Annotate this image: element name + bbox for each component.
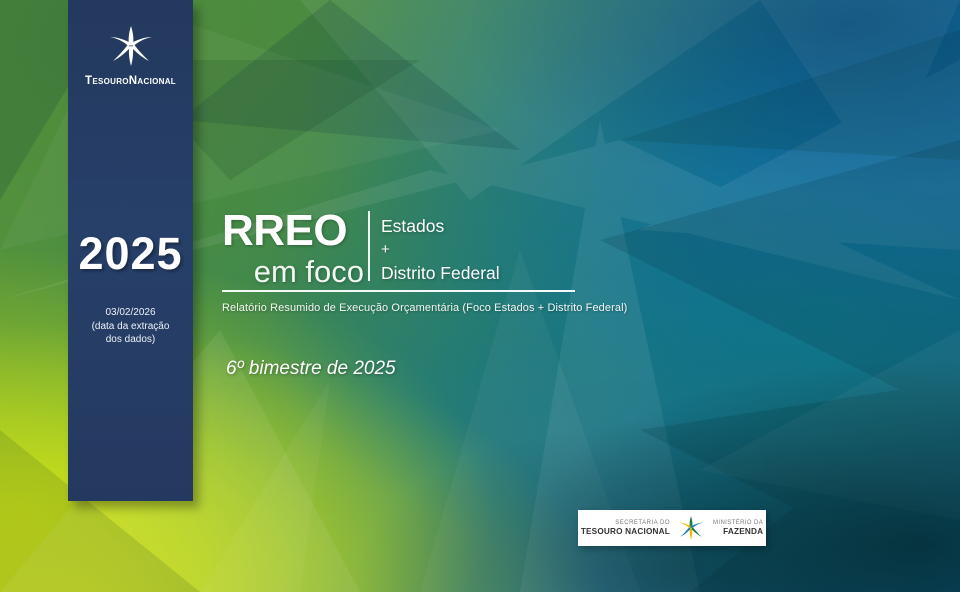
title-block: RREO em foco Estados + Distrito Federal	[222, 208, 652, 290]
title-primary: RREO em foco	[222, 208, 368, 290]
title-scope-line2: Distrito Federal	[381, 261, 500, 286]
report-period: 6º bimestre de 2025	[226, 358, 396, 380]
slide-canvas: TesouroNacional 2025 03/02/2026 (data da…	[0, 0, 960, 592]
badge-tesouro-line2: TESOURO NACIONAL	[581, 527, 670, 536]
title-scope: Estados + Distrito Federal	[381, 208, 500, 286]
tesouro-nacional-star-icon	[108, 24, 154, 68]
sidebar-logo: TesouroNacional	[68, 24, 193, 87]
extraction-date: 03/02/2026	[74, 306, 187, 320]
extraction-caption-line2: dos dados)	[74, 333, 187, 347]
page-subtitle-emfoco: em foco	[222, 254, 368, 290]
extraction-date-block: 03/02/2026 (data da extração dos dados)	[74, 306, 187, 347]
sidebar-panel: TesouroNacional 2025 03/02/2026 (data da…	[68, 0, 193, 501]
badge-tesouro-text: SECRETARIA DO TESOURO NACIONAL	[581, 520, 676, 536]
report-description: Relatório Resumido de Execução Orçamentá…	[222, 302, 722, 314]
badge-fazenda-line1: MINISTÉRIO DA	[713, 520, 763, 527]
government-logo-badge: SECRETARIA DO TESOURO NACIONAL MINISTÉRI…	[578, 510, 766, 546]
year-label: 2025	[68, 228, 193, 280]
title-vertical-divider	[368, 211, 370, 281]
sidebar-logo-label: TesouroNacional	[68, 75, 193, 87]
badge-fazenda-line2: FAZENDA	[713, 527, 763, 536]
title-scope-plus: +	[381, 239, 500, 261]
title-scope-line1: Estados	[381, 214, 500, 239]
title-horizontal-divider	[222, 290, 575, 292]
fazenda-star-icon	[676, 515, 706, 541]
extraction-caption-line1: (data da extração	[74, 320, 187, 334]
badge-fazenda-text: MINISTÉRIO DA FAZENDA	[706, 520, 763, 536]
badge-tesouro-line1: SECRETARIA DO	[581, 520, 670, 527]
page-title: RREO	[222, 210, 368, 252]
